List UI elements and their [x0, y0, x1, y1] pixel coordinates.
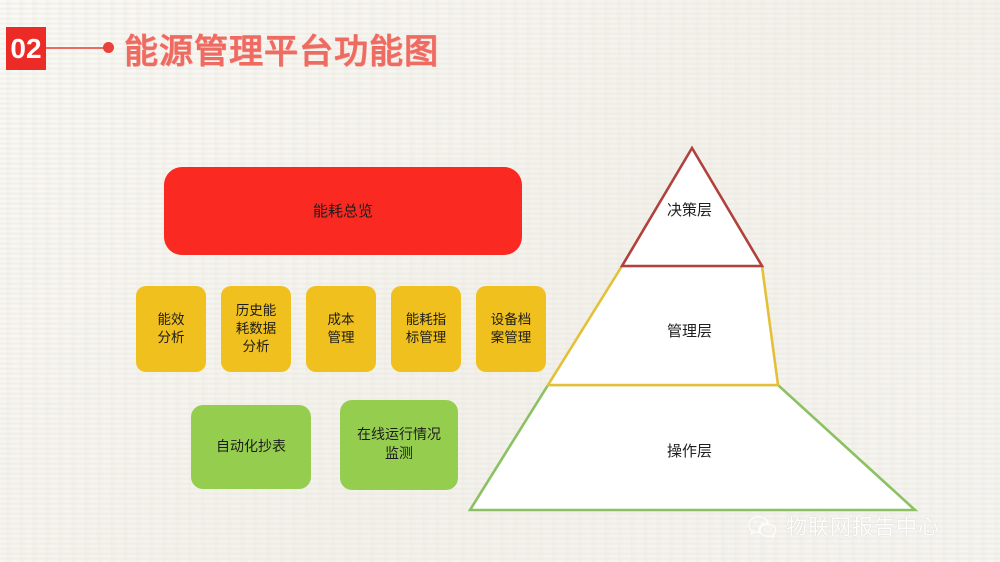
watermark-text: 物联网报告中心 [786, 511, 940, 541]
pyramid-label-management: 管理层 [667, 320, 712, 341]
watermark: 物联网报告中心 [748, 511, 940, 541]
header-connector-line [46, 47, 106, 49]
pyramid-layer-management-shape [548, 266, 778, 385]
section-number-badge: 02 [6, 27, 46, 70]
wechat-icon [748, 514, 778, 538]
function-box-automatic-meter-reading[interactable]: 自动化抄表 [191, 405, 311, 489]
page-title: 能源管理平台功能图 [124, 24, 439, 73]
pyramid-label-decision: 决策层 [667, 199, 712, 220]
header-connector-dot-icon [103, 42, 114, 53]
function-box-cost-management[interactable]: 成本管理 [306, 286, 376, 372]
function-box-energy-efficiency-analysis[interactable]: 能效分析 [136, 286, 206, 372]
function-box-historical-energy-data-analysis[interactable]: 历史能耗数据分析 [221, 286, 291, 372]
pyramid-label-operation: 操作层 [667, 440, 712, 461]
slide-canvas: 02 能源管理平台功能图 能耗总览 能效分析 历史能耗数据分析 成本管理 能耗指… [0, 0, 1000, 562]
